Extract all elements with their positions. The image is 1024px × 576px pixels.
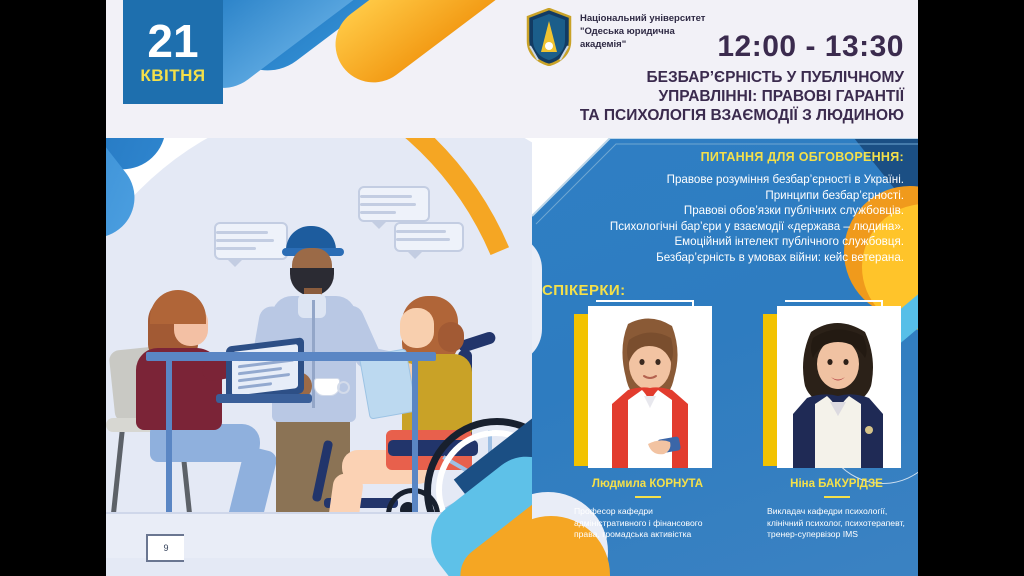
speaker-photo-kornuta <box>588 306 712 468</box>
date-badge-day: 21 <box>147 18 198 64</box>
speakers-list: Людмила КОРНУТА Професор кафедри адмініс… <box>570 306 918 556</box>
presentation-slide: 21 КВІТНЯ Національний університет "Одес… <box>106 0 918 576</box>
speaker-photo-bakuridze <box>777 306 901 468</box>
speaker-name: Ніна БАКУРІДЗЕ <box>759 478 914 490</box>
speech-bubble-left <box>214 222 288 260</box>
question-item: Правове розуміння безбар’єрності в Украї… <box>552 172 904 188</box>
person-right-face <box>400 308 434 348</box>
speaker-divider <box>824 496 850 498</box>
question-item: Правові обов’язки публічних службовців. <box>552 203 904 219</box>
speech-bubble-center <box>358 186 430 222</box>
light-disc-decoration-1 <box>532 234 542 364</box>
speaker-card: Людмила КОРНУТА Професор кафедри адмініс… <box>570 306 725 556</box>
speech-bubble-right <box>394 222 464 252</box>
date-badge-month: КВІТНЯ <box>140 66 205 86</box>
person-right-hair-bun <box>438 322 464 352</box>
speaker-divider <box>635 496 661 498</box>
screenshot-stage: 21 КВІТНЯ Національний університет "Одес… <box>0 0 1024 576</box>
question-item: Психологічні бар’єри у взаємодії «держав… <box>552 219 904 235</box>
event-title-line-2: УПРАВЛІННІ: ПРАВОВІ ГАРАНТІЇ <box>532 87 904 106</box>
event-title: БЕЗБАР’ЄРНІСТЬ У ПУБЛІЧНОМУ УПРАВЛІННІ: … <box>532 68 918 125</box>
question-item: Емоційний інтелект публічного службовця. <box>552 234 904 250</box>
date-badge: 21 КВІТНЯ <box>123 0 223 104</box>
speaker-card: Ніна БАКУРІДЗЕ Викладач кафедри психолог… <box>759 306 914 556</box>
laptop-base <box>216 394 312 403</box>
content-panel: ПИТАННЯ ДЛЯ ОБГОВОРЕННЯ: Правове розумін… <box>532 138 918 576</box>
organization-name-line1: Національний університет <box>580 12 770 25</box>
event-title-line-1: БЕЗБАР’ЄРНІСТЬ У ПУБЛІЧНОМУ <box>532 68 904 87</box>
event-title-line-3: ТА ПСИХОЛОГІЯ ВЗАЄМОДІЇ З ЛЮДИНОЮ <box>532 106 904 125</box>
questions-list: Правове розуміння безбар’єрності в Украї… <box>552 172 904 266</box>
question-item: Безбар’єрність в умовах війни: кейс вете… <box>552 250 904 266</box>
table-top <box>146 352 436 361</box>
question-item: Принципи безбар’єрності. <box>552 188 904 204</box>
speaker-role: Викладач кафедри психології, клінічний п… <box>767 506 917 541</box>
questions-heading: ПИТАННЯ ДЛЯ ОБГОВОРЕННЯ: <box>701 150 904 164</box>
coffee-cup-handle <box>337 381 350 394</box>
speaker-role: Професор кафедри адміністративного і фін… <box>574 506 724 541</box>
page-marker-left: 9 <box>146 534 184 562</box>
speaker-name: Людмила КОРНУТА <box>570 478 725 490</box>
event-time: 12:00 - 13:30 <box>532 30 918 64</box>
speakers-heading: СПІКЕРКИ: <box>542 282 625 299</box>
